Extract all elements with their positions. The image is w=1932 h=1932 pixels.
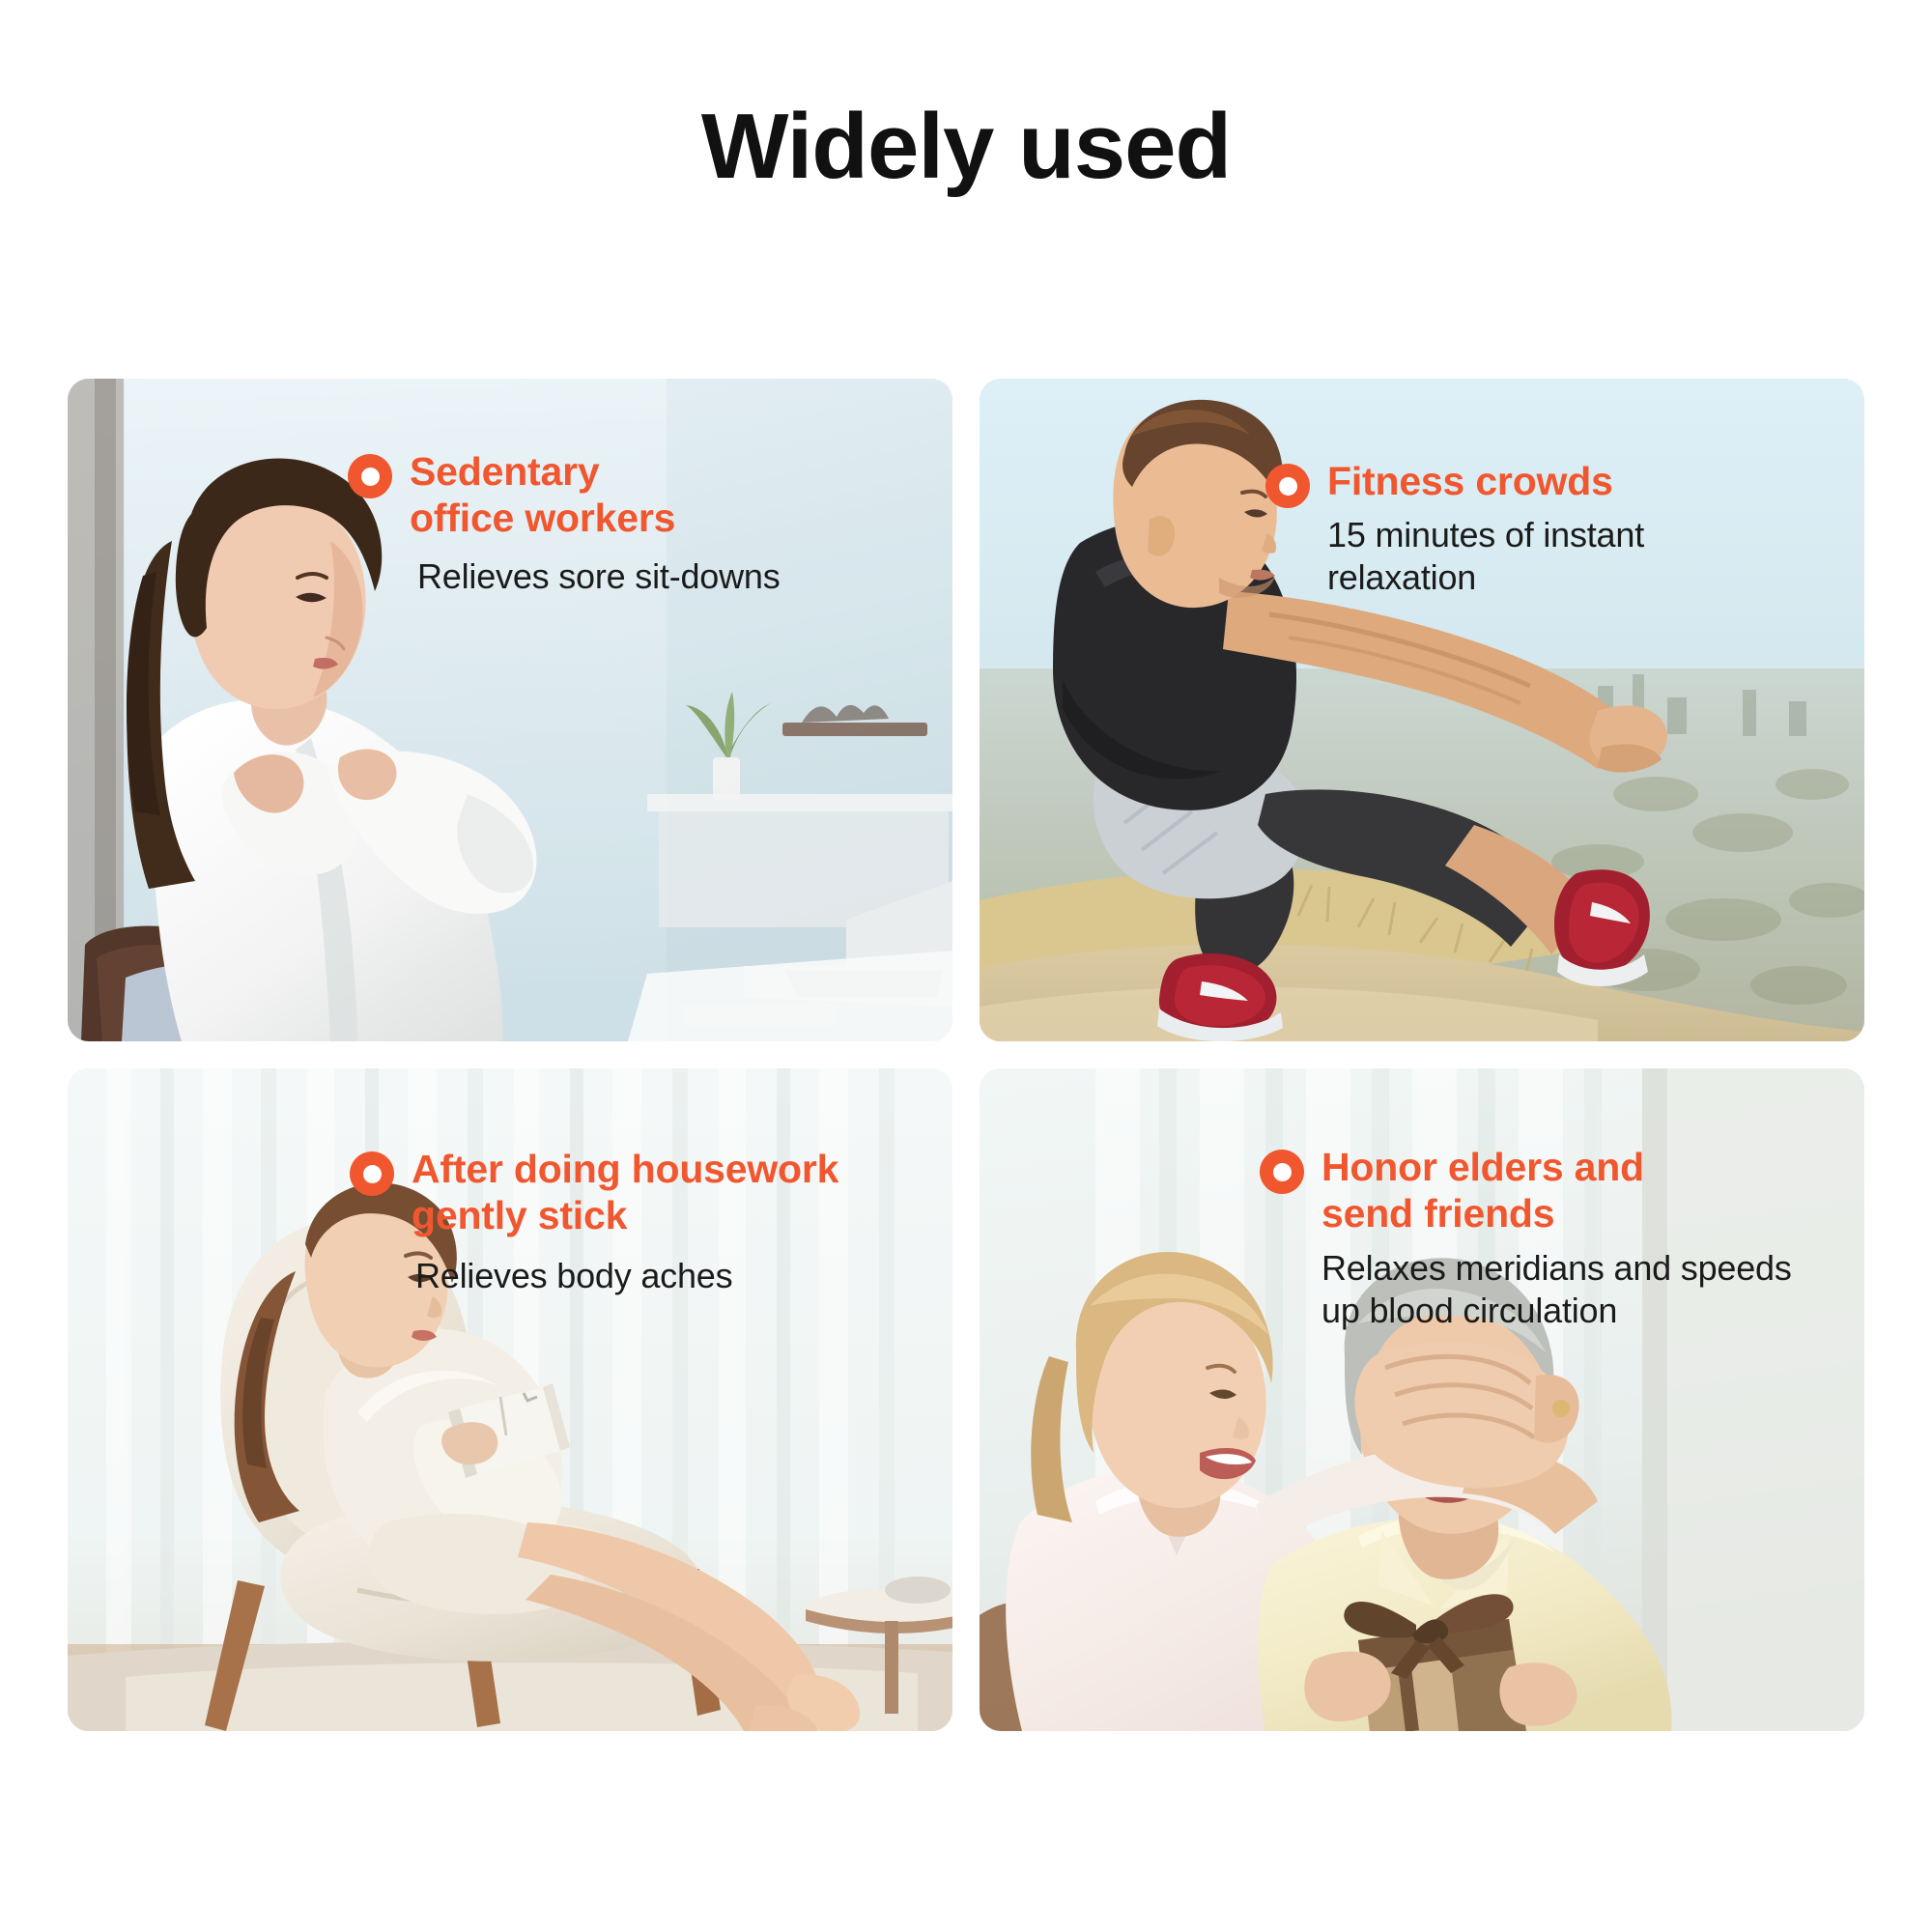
use-case-card-fitness-crowds[interactable]: Fitness crowds 15 minutes of instant rel… bbox=[980, 379, 1864, 1041]
card-headline: Sedentary office workers bbox=[410, 448, 781, 542]
page-title: Widely used bbox=[0, 100, 1932, 193]
use-case-card-after-housework[interactable]: After doing housework gently stick Relie… bbox=[68, 1068, 952, 1731]
ring-bullet-icon bbox=[1265, 464, 1310, 508]
ring-bullet-icon bbox=[1260, 1150, 1304, 1194]
use-case-card-honor-elders[interactable]: Honor elders and send friends Relaxes me… bbox=[980, 1068, 1864, 1731]
card-headline: Fitness crowds bbox=[1327, 458, 1644, 504]
card-text-column: Sedentary office workers Relieves sore s… bbox=[410, 448, 781, 598]
card-text-overlay: Honor elders and send friends Relaxes me… bbox=[1260, 1144, 1792, 1332]
card-subline: Relieves sore sit-downs bbox=[417, 555, 781, 598]
use-case-grid: Sedentary office workers Relieves sore s… bbox=[68, 379, 1864, 1731]
card-text-overlay: After doing housework gently stick Relie… bbox=[350, 1146, 838, 1297]
card-text-overlay: Fitness crowds 15 minutes of instant rel… bbox=[1265, 458, 1644, 599]
card-headline: After doing housework gently stick bbox=[412, 1146, 838, 1239]
card-text-column: After doing housework gently stick Relie… bbox=[412, 1146, 838, 1297]
card-text-column: Honor elders and send friends Relaxes me… bbox=[1321, 1144, 1792, 1332]
marketing-page: Widely used bbox=[0, 0, 1932, 1932]
card-text-column: Fitness crowds 15 minutes of instant rel… bbox=[1327, 458, 1644, 599]
card-subline: Relieves body aches bbox=[415, 1255, 838, 1297]
card-headline: Honor elders and send friends bbox=[1321, 1144, 1792, 1237]
ring-bullet-icon bbox=[350, 1151, 394, 1196]
card-subline: Relaxes meridians and speeds up blood ci… bbox=[1321, 1247, 1792, 1332]
use-case-card-sedentary-office-workers[interactable]: Sedentary office workers Relieves sore s… bbox=[68, 379, 952, 1041]
card-subline: 15 minutes of instant relaxation bbox=[1327, 514, 1644, 599]
card-text-overlay: Sedentary office workers Relieves sore s… bbox=[348, 448, 781, 598]
ring-bullet-icon bbox=[348, 454, 392, 498]
